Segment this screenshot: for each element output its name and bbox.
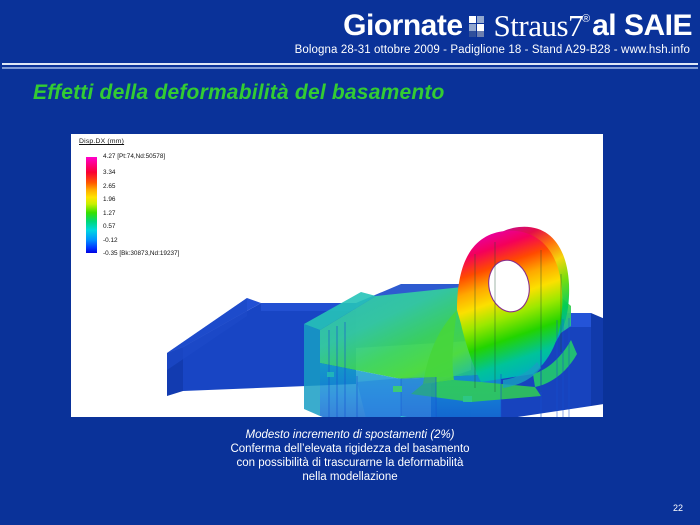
header-brand-straus7: Straus7 — [494, 10, 584, 41]
caption-line-1: Modesto incremento di spostamenti (2%) — [0, 428, 700, 442]
header-brand-alsaie: al SAIE — [592, 11, 692, 41]
legend-colorbar — [86, 157, 97, 253]
straus7-squares-logo-icon — [469, 16, 491, 37]
legend-max-label: 4.27 [Pt:74,Nd:50578] — [103, 154, 165, 160]
legend-labels: 4.27 [Pt:74,Nd:50578] 3.34 2.65 1.96 1.2… — [103, 147, 253, 259]
header-brand-giornate: Giornate — [343, 11, 462, 41]
legend-tick-4: 0.57 — [103, 224, 115, 230]
legend-tick-3: 1.27 — [103, 211, 115, 217]
legend-min-label: -0.35 [Bk:30873,Nd:19237] — [103, 251, 179, 257]
header-subtitle: Bologna 28-31 ottobre 2009 - Padiglione … — [295, 44, 690, 56]
contour-legend: Disp.DX (mm) 4.27 [Pt:74,Nd:50578] 3.34 … — [79, 138, 259, 259]
caption-line-3: con possibilità di trascurarne la deform… — [0, 456, 700, 470]
legend-title: Disp.DX (mm) — [79, 138, 259, 145]
registered-mark-icon: ® — [582, 13, 590, 25]
page-title: Effetti della deformabilità del basament… — [33, 81, 445, 105]
page-number: 22 — [673, 503, 683, 513]
legend-tick-2: 1.96 — [103, 197, 115, 203]
slide-caption: Modesto incremento di spostamenti (2%) C… — [0, 428, 700, 484]
header-brand: Giornate Straus7 ® al SAIE — [343, 10, 692, 41]
legend-tick-0: 3.34 — [103, 170, 115, 176]
slide-header: Giornate Straus7 ® al SAIE Bologna 28-31… — [0, 0, 700, 68]
caption-line-2: Conferma dell’elevata rigidezza del basa… — [0, 442, 700, 456]
header-rule-top — [2, 63, 698, 65]
header-rule-bottom — [2, 67, 698, 69]
figure-panel: Disp.DX (mm) 4.27 [Pt:74,Nd:50578] 3.34 … — [71, 134, 603, 417]
legend-tick-1: 2.65 — [103, 184, 115, 190]
legend-tick-5: -0.12 — [103, 238, 118, 244]
caption-line-4: nella modellazione — [0, 470, 700, 484]
